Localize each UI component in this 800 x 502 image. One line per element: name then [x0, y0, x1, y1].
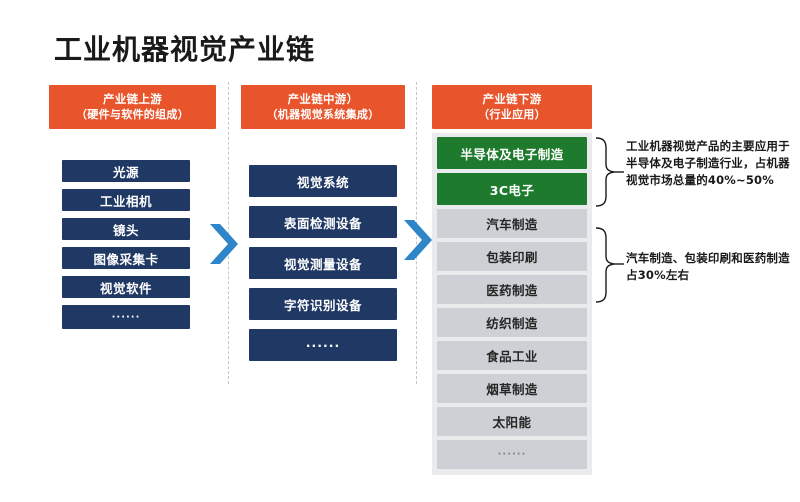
- column-header-upstream-line1: 产业链上游: [103, 91, 162, 107]
- list-item[interactable]: 汽车制造: [437, 209, 587, 238]
- list-item[interactable]: 工业相机: [62, 189, 190, 211]
- column-header-upstream: 产业链上游 （硬件与软件的组成）: [49, 85, 216, 129]
- arrow-right-icon: [208, 222, 242, 268]
- list-item-highlighted[interactable]: 半导体及电子制造: [437, 137, 587, 169]
- list-item[interactable]: 视觉软件: [62, 276, 190, 298]
- list-item[interactable]: 医药制造: [437, 275, 587, 304]
- list-item[interactable]: 视觉测量设备: [249, 247, 397, 279]
- list-item-more[interactable]: ······: [437, 440, 587, 469]
- list-item[interactable]: 视觉系统: [249, 165, 397, 197]
- diagram-canvas: 工业机器视觉产业链 产业链上游 （硬件与软件的组成） 光源 工业相机 镜头 图像…: [0, 0, 800, 502]
- column-header-upstream-line2: （硬件与软件的组成）: [76, 107, 189, 123]
- curly-brace-icon: [594, 136, 624, 212]
- column-header-downstream-line1: 产业链下游: [483, 91, 542, 107]
- list-item[interactable]: 镜头: [62, 218, 190, 240]
- list-item[interactable]: 字符识别设备: [249, 288, 397, 320]
- list-item[interactable]: 图像采集卡: [62, 247, 190, 269]
- column-header-midstream: 产业链中游） （机器视觉系统集成）: [241, 85, 405, 129]
- column-header-midstream-line1: 产业链中游）: [288, 91, 359, 107]
- page-title: 工业机器视觉产业链: [54, 28, 315, 68]
- list-item[interactable]: 表面检测设备: [249, 206, 397, 238]
- midstream-item-list: 视觉系统 表面检测设备 视觉测量设备 字符识别设备 ······: [249, 165, 397, 370]
- column-header-midstream-line2: （机器视觉系统集成）: [267, 107, 380, 123]
- column-header-downstream: 产业链下游 （行业应用）: [432, 85, 592, 129]
- list-item-more[interactable]: ······: [62, 305, 190, 329]
- list-item[interactable]: 太阳能: [437, 407, 587, 436]
- arrow-right-icon: [402, 218, 436, 264]
- downstream-item-list: 半导体及电子制造 3C电子 汽车制造 包装印刷 医药制造 纺织制造 食品工业 烟…: [432, 133, 592, 475]
- annotation-text: 汽车制造、包装印刷和医药制造占30%左右: [626, 250, 798, 284]
- curly-brace-icon: [594, 226, 624, 308]
- list-item-highlighted[interactable]: 3C电子: [437, 173, 587, 205]
- list-item[interactable]: 食品工业: [437, 341, 587, 370]
- column-header-downstream-line2: （行业应用）: [478, 107, 546, 123]
- list-item[interactable]: 光源: [62, 160, 190, 182]
- list-item-more[interactable]: ······: [249, 329, 397, 361]
- annotation-text: 工业机器视觉产品的主要应用于半导体及电子制造行业，占机器视觉市场总量的40%~5…: [626, 138, 798, 189]
- list-item[interactable]: 烟草制造: [437, 374, 587, 403]
- list-item[interactable]: 纺织制造: [437, 308, 587, 337]
- list-item[interactable]: 包装印刷: [437, 242, 587, 271]
- upstream-item-list: 光源 工业相机 镜头 图像采集卡 视觉软件 ······: [62, 160, 190, 336]
